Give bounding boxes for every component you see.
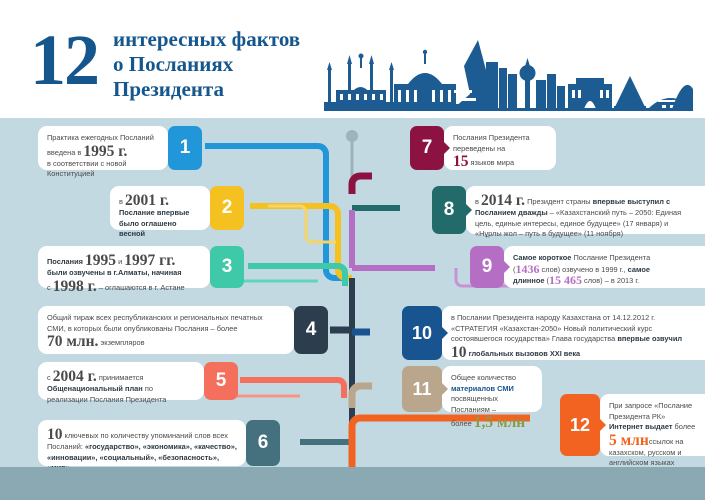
fact-item-10[interactable]: в Послании Президента народу Казахстана … — [402, 306, 705, 360]
fact-item-4[interactable]: Общий тираж всех республиканских и регио… — [38, 306, 328, 354]
facts-canvas: Практика ежегодных Посланийвведена в 199… — [0, 118, 705, 500]
fact-arrow-icon-9 — [503, 260, 510, 274]
fact-card-11: Общее количествоматериалов СМИпосвященны… — [442, 366, 542, 412]
fact-text-8: в 2014 г. Президент страны впервые высту… — [466, 186, 705, 247]
fact-badge-7[interactable]: 7 — [410, 126, 444, 170]
title-line-1: интересных фактов — [113, 27, 343, 52]
fact-card-5: с 2004 г. принимаетсяОбщенациональный пл… — [38, 362, 204, 400]
fact-text-5: с 2004 г. принимаетсяОбщенациональный пл… — [38, 362, 204, 412]
fact-item-1[interactable]: Практика ежегодных Посланийвведена в 199… — [38, 126, 202, 170]
fact-arrow-icon-8 — [465, 203, 472, 217]
fact-card-2: в 2001 г.Послание впервыебыло оглашенове… — [110, 186, 210, 230]
footer-band — [0, 467, 705, 500]
fact-card-6: 10 ключевых по количеству упоминаний сло… — [38, 420, 246, 466]
header: 12 интересных фактов о Посланиях Президе… — [0, 0, 705, 118]
fact-arrow-icon-7 — [443, 141, 450, 155]
fact-card-9: Самое короткое Послание Президента(1436 … — [504, 246, 705, 288]
fact-text-10: в Послании Президента народу Казахстана … — [442, 306, 705, 367]
fact-item-7[interactable]: Послания Президентапереведены на15 языко… — [410, 126, 556, 170]
astana-skyline-icon — [318, 28, 693, 114]
title-line-2: о Посланиях — [113, 52, 343, 77]
fact-text-7: Послания Президентапереведены на15 языко… — [444, 126, 556, 176]
fact-arrow-icon-2 — [210, 201, 217, 215]
fact-card-7: Послания Президентапереведены на15 языко… — [444, 126, 556, 170]
page-title: интересных фактов о Посланиях Президента — [113, 27, 343, 102]
fact-badge-12[interactable]: 12 — [560, 394, 600, 456]
fact-arrow-icon-5 — [204, 374, 211, 388]
fact-arrow-icon-6 — [246, 436, 253, 450]
fact-item-3[interactable]: Послания 1995 и 1997 гг.были озвучены в … — [38, 246, 244, 288]
fact-arrow-icon-4 — [294, 323, 301, 337]
fact-card-8: в 2014 г. Президент страны впервые высту… — [466, 186, 705, 234]
fact-arrow-icon-12 — [599, 418, 606, 432]
fact-card-10: в Послании Президента народу Казахстана … — [442, 306, 705, 360]
fact-item-2[interactable]: в 2001 г.Послание впервыебыло оглашенове… — [110, 186, 244, 230]
fact-text-4: Общий тираж всех республиканских и регио… — [38, 306, 294, 356]
fact-card-3: Послания 1995 и 1997 гг.были озвучены в … — [38, 246, 210, 288]
fact-text-11: Общее количествоматериалов СМИпосвященны… — [442, 366, 542, 437]
fact-item-8[interactable]: в 2014 г. Президент страны впервые высту… — [432, 186, 705, 234]
fact-badge-11[interactable]: 11 — [402, 366, 442, 412]
fact-text-3: Послания 1995 и 1997 гг.были озвучены в … — [38, 246, 210, 301]
fact-item-6[interactable]: 10 ключевых по количеству упоминаний сло… — [38, 420, 280, 466]
fact-arrow-icon-10 — [441, 326, 448, 340]
fact-text-12: При запросе «ПосланиеПрезидента РК»Интер… — [600, 394, 705, 476]
fact-text-1: Практика ежегодных Посланийвведена в 199… — [38, 126, 168, 187]
fact-item-11[interactable]: Общее количествоматериалов СМИпосвященны… — [402, 366, 542, 412]
fact-card-4: Общий тираж всех республиканских и регио… — [38, 306, 294, 354]
fact-text-9: Самое короткое Послание Президента(1436 … — [504, 246, 705, 294]
fact-card-12: При запросе «ПосланиеПрезидента РК»Интер… — [600, 394, 705, 456]
title-line-3: Президента — [113, 77, 343, 102]
fact-badge-9[interactable]: 9 — [470, 246, 504, 288]
fact-badge-8[interactable]: 8 — [432, 186, 466, 234]
fact-arrow-icon-1 — [168, 141, 175, 155]
fact-item-5[interactable]: с 2004 г. принимаетсяОбщенациональный пл… — [38, 362, 238, 400]
header-big-number: 12 — [30, 24, 98, 96]
fact-arrow-icon-11 — [441, 382, 448, 396]
fact-badge-10[interactable]: 10 — [402, 306, 442, 360]
fact-item-12[interactable]: При запросе «ПосланиеПрезидента РК»Интер… — [560, 394, 705, 456]
fact-text-2: в 2001 г.Послание впервыебыло оглашенове… — [110, 186, 210, 247]
fact-card-1: Практика ежегодных Посланийвведена в 199… — [38, 126, 168, 170]
fact-arrow-icon-3 — [210, 260, 217, 274]
infographic-root: 12 интересных фактов о Посланиях Президе… — [0, 0, 705, 500]
fact-item-9[interactable]: Самое короткое Послание Президента(1436 … — [470, 246, 705, 288]
